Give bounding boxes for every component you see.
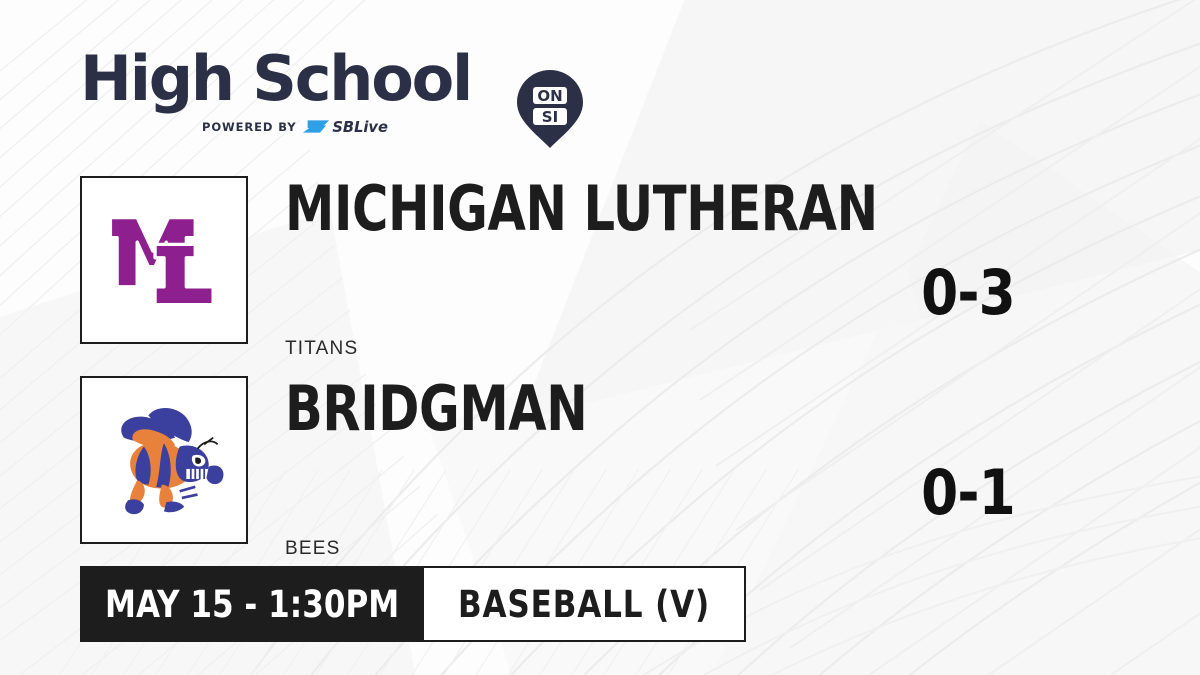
game-sport-block: BASEBALL (V)	[424, 566, 746, 642]
team-nickname-bees: BEES	[285, 538, 341, 560]
game-sport-label: BASEBALL (V)	[458, 586, 710, 623]
sblive-label: SBLive	[333, 119, 389, 135]
game-info-banner: MAY 15 - 1:30PM BASEBALL (V)	[80, 566, 746, 642]
michigan-lutheran-ml-monogram-logo	[97, 193, 231, 327]
game-datetime-block: MAY 15 - 1:30PM	[80, 566, 424, 642]
matchup-graphic: High School ON SI POWERED BY SBLive MICH…	[0, 0, 1200, 675]
team-name-bridgman: BRIDGMAN	[285, 378, 587, 440]
bridgman-bee-mascot-logo	[97, 393, 231, 527]
pin-text-si: SI	[542, 108, 558, 126]
team-record-michigan-lutheran: 0-3	[856, 262, 1080, 324]
team-nickname-titans: TITANS	[285, 338, 358, 360]
brand-header: High School ON SI POWERED BY SBLive	[80, 34, 550, 134]
team-record-bridgman: 0-1	[856, 462, 1080, 524]
high-school-wordmark: High School	[80, 48, 471, 110]
sblive-logo-icon: SBLive	[303, 118, 442, 135]
on-si-pin-icon: ON SI	[517, 70, 583, 148]
powered-by-label: POWERED BY	[202, 120, 296, 134]
team-name-michigan-lutheran: MICHIGAN LUTHERAN	[285, 178, 878, 240]
team-logo-box-michigan-lutheran	[80, 176, 248, 344]
powered-by-sblive: POWERED BY SBLive	[202, 118, 442, 135]
team-logo-box-bridgman	[80, 376, 248, 544]
pin-text-on: ON	[537, 87, 562, 105]
game-datetime-label: MAY 15 - 1:30PM	[105, 586, 399, 623]
